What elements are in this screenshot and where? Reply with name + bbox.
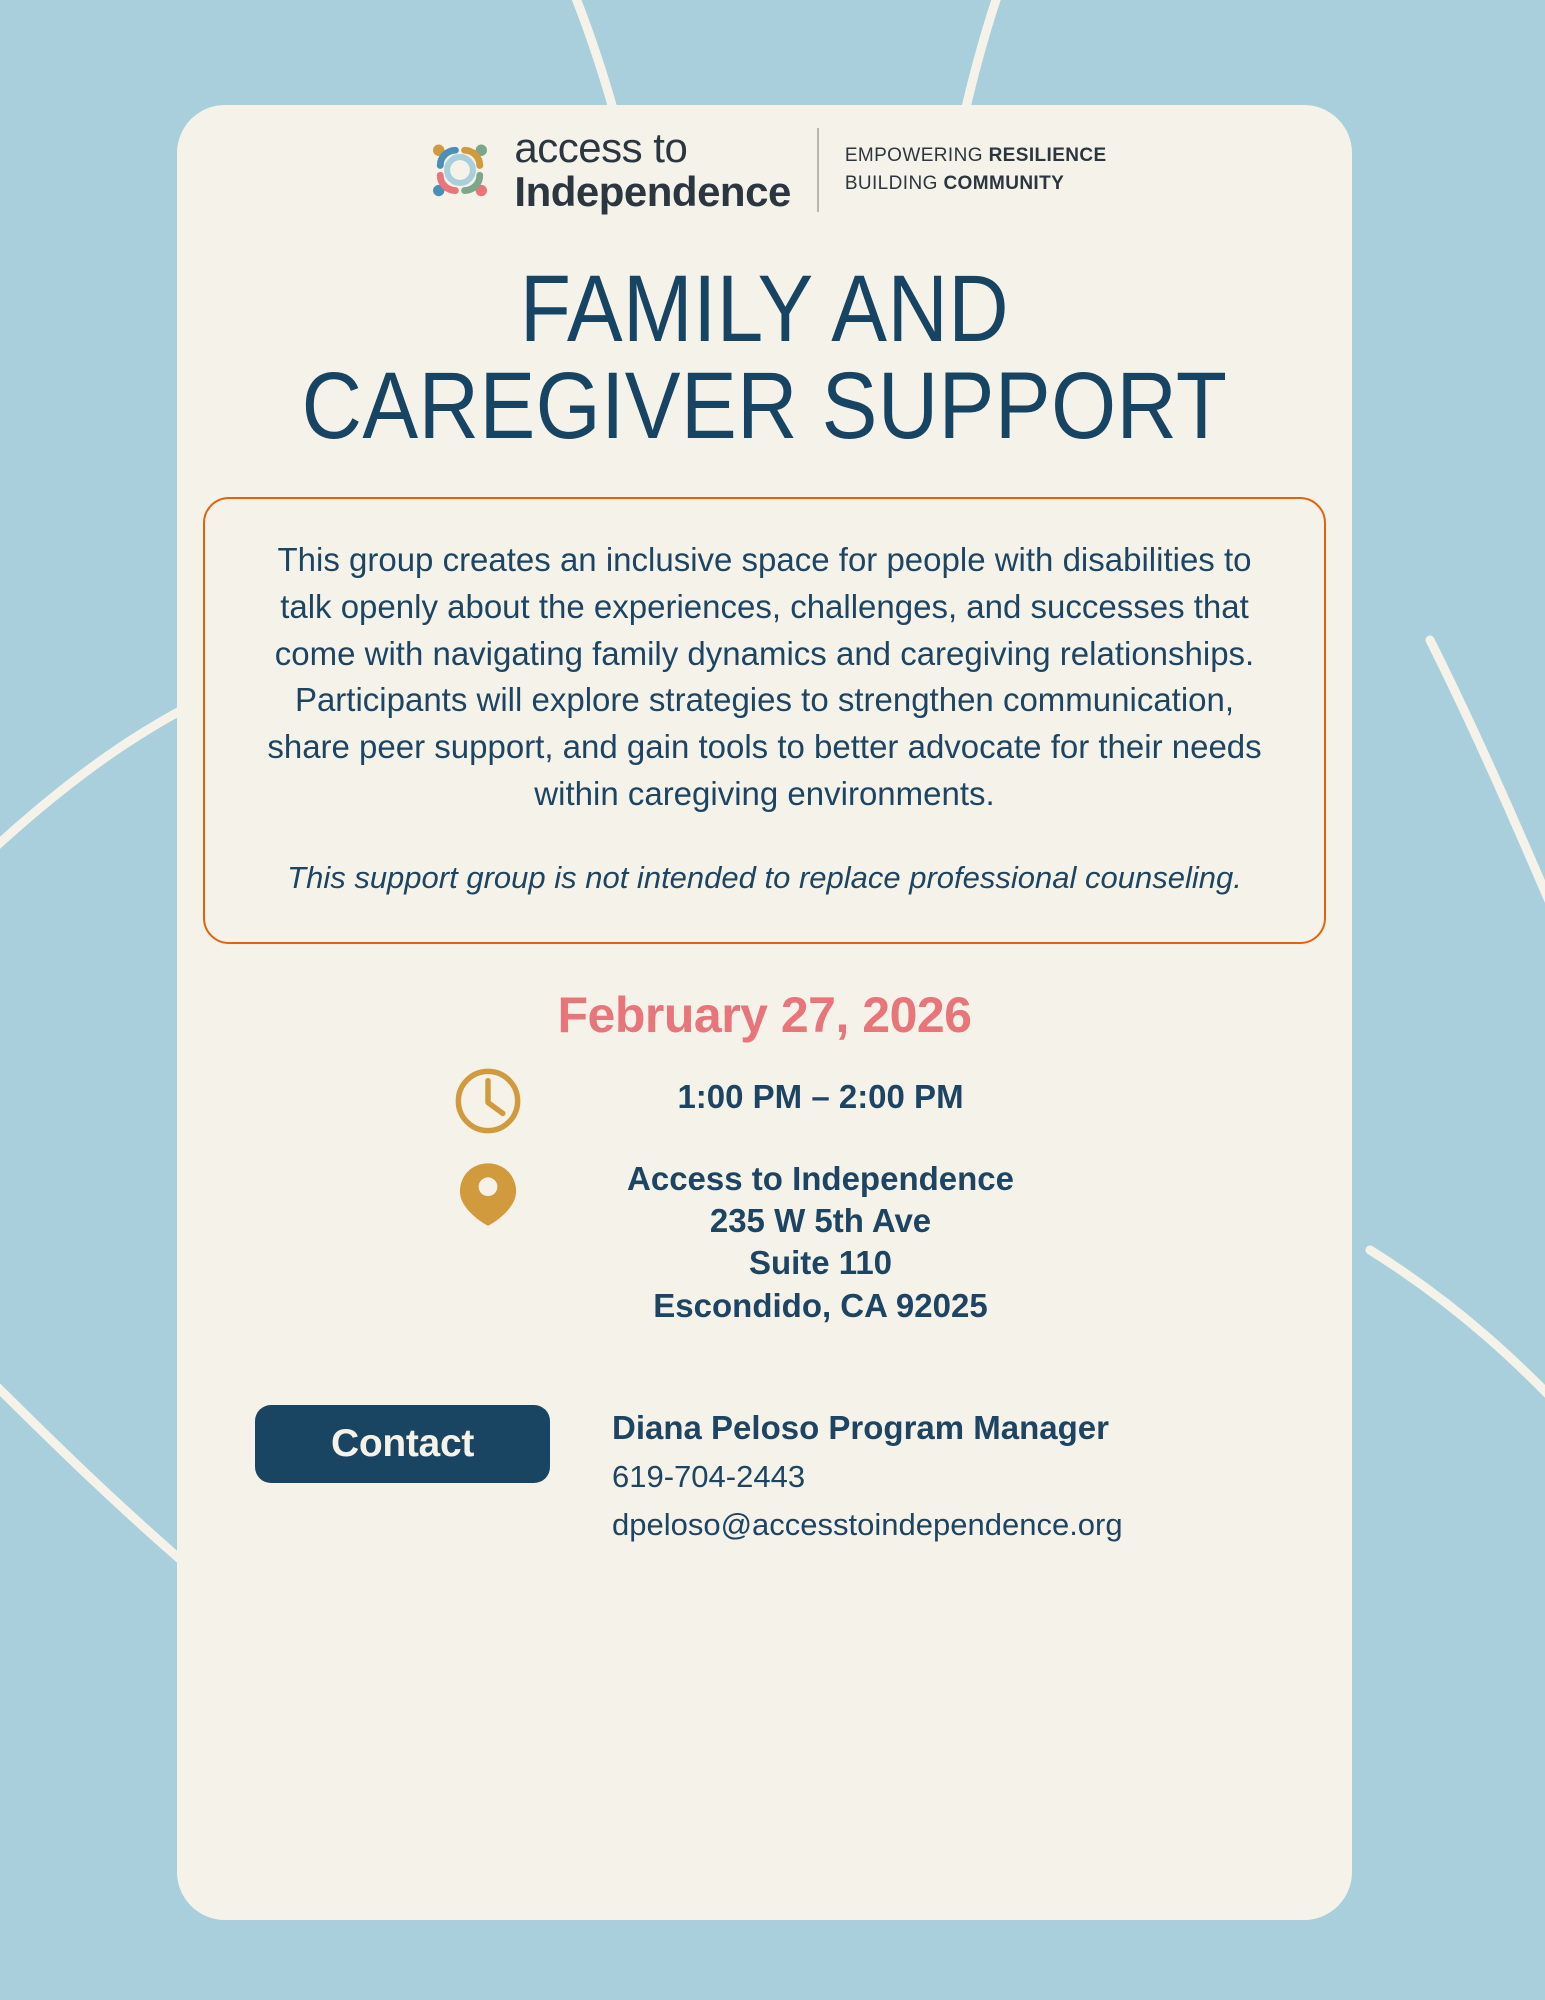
location-city: Escondido, CA 92025 xyxy=(561,1285,1081,1327)
location-street: 235 W 5th Ave xyxy=(561,1200,1081,1242)
logo-lockup: access to Independence xyxy=(422,127,790,213)
description-box: This group creates an inclusive space fo… xyxy=(203,497,1326,944)
tagline-line1-bold: RESILIENCE xyxy=(989,145,1107,166)
location-pin-icon xyxy=(449,1154,527,1232)
logo-header: access to Independence EMPOWERING RESILI… xyxy=(177,127,1352,213)
logo-wordmark: access to Independence xyxy=(514,127,790,213)
logo-name-line2: Independence xyxy=(514,171,790,213)
logo-tagline: EMPOWERING RESILIENCE BUILDING COMMUNITY xyxy=(845,142,1107,197)
event-location-text: Access to Independence 235 W 5th Ave Sui… xyxy=(561,1154,1081,1327)
location-name: Access to Independence xyxy=(561,1158,1081,1200)
page-title-line2: CAREGIVER SUPPORT xyxy=(248,358,1282,455)
flyer-card: access to Independence EMPOWERING RESILI… xyxy=(177,105,1352,1920)
event-time-row: 1:00 PM – 2:00 PM xyxy=(177,1062,1352,1140)
contact-person-name: Diana Peloso Program Manager xyxy=(612,1407,1123,1450)
contact-phone[interactable]: 619-704-2443 xyxy=(612,1456,1123,1498)
decor-curve-right-far xyxy=(1430,640,1545,1020)
decor-curve-right-lower xyxy=(1370,1250,1545,1450)
description-disclaimer-text: This support group is not intended to re… xyxy=(253,856,1276,900)
contact-button[interactable]: Contact xyxy=(255,1405,550,1483)
tagline-line2-bold: COMMUNITY xyxy=(943,173,1064,194)
tagline-line2-regular: BUILDING xyxy=(845,173,944,194)
event-location-row: Access to Independence 235 W 5th Ave Sui… xyxy=(177,1154,1352,1327)
access-to-independence-logo-icon xyxy=(422,132,498,208)
logo-divider xyxy=(817,128,819,212)
event-time-text: 1:00 PM – 2:00 PM xyxy=(561,1062,1081,1118)
page-title: FAMILY AND CAREGIVER SUPPORT xyxy=(248,261,1282,455)
contact-section: Contact Diana Peloso Program Manager 619… xyxy=(255,1405,1352,1546)
event-time-value: 1:00 PM – 2:00 PM xyxy=(561,1076,1081,1118)
tagline-line1-regular: EMPOWERING xyxy=(845,145,989,166)
contact-details: Diana Peloso Program Manager 619-704-244… xyxy=(612,1405,1123,1546)
location-suite: Suite 110 xyxy=(561,1242,1081,1284)
page-title-line1: FAMILY AND xyxy=(248,261,1282,358)
logo-name-line1: access to xyxy=(514,127,790,169)
event-date: February 27, 2026 xyxy=(177,986,1352,1044)
contact-email[interactable]: dpeloso@accesstoindependence.org xyxy=(612,1504,1123,1546)
clock-icon xyxy=(449,1062,527,1140)
description-main-text: This group creates an inclusive space fo… xyxy=(253,537,1276,818)
